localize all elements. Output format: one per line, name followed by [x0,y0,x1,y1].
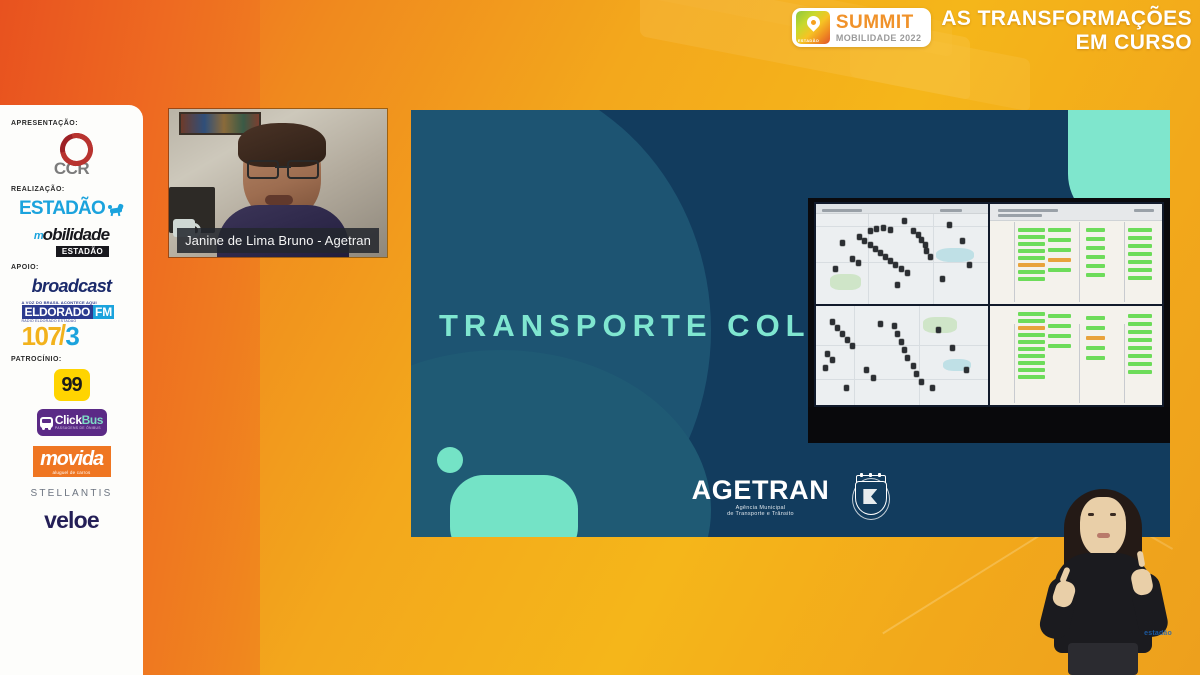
video-wall [814,202,1164,407]
agetran-logo: AGETRAN Agência Municipal de Transporte … [692,477,830,517]
eldorado-fm-mark: FM [93,305,114,319]
event-header: ESTADÃO SUMMIT MOBILIDADE 2022 AS TRANSF… [792,2,1192,54]
slide-dot-mint [437,447,463,473]
sign-language-interpreter: estadão [1028,485,1178,675]
summit-pin-tag: ESTADÃO [798,38,819,43]
wall-panel-table-top [990,204,1162,304]
logo-ccr[interactable]: CCR [0,130,143,181]
summit-logo-badge: ESTADÃO SUMMIT MOBILIDADE 2022 [792,8,932,47]
logo-movida[interactable]: movida aluguel de carros [0,441,143,482]
mobilidade-wordmark: obilidade [43,225,110,245]
wall-panel-table-bottom [990,306,1162,406]
logo-eldorado-fm[interactable]: A VOZ DO BRASIL ACONTECE AQUI ELDORADO F… [0,299,143,351]
logo-estadao[interactable]: ESTADÃO [0,196,143,222]
glasses-icon [247,160,319,175]
control-room-photo [808,198,1170,443]
presentation-slide[interactable]: TRANSPORTE COLETIVO [411,110,1170,537]
speaker-video-tile[interactable]: Janine de Lima Bruno - Agetran [169,109,387,257]
estadao-wordmark: ESTADÃO [19,198,105,220]
sidebar-label-patrocinio: PATROCÍNIO: [0,356,143,363]
eldorado-wordmark: ELDORADO [22,305,93,319]
n99-wordmark: 99 [61,374,81,397]
stellantis-wordmark: STELLANTIS [30,488,112,499]
logo-clickbus[interactable]: ClickBus PASSAGENS DE ÔNIBUS [0,404,143,441]
sidebar-label-realizacao: REALIZAÇÃO: [0,186,143,193]
speaker-name-bar: Janine de Lima Bruno - Agetran [177,228,379,253]
logo-99[interactable]: 99 [0,366,143,404]
agetran-wordmark: AGETRAN [692,477,830,504]
sidebar-label-apoio: APOIO: [0,264,143,271]
event-title-line2: EM CURSO [941,31,1192,55]
city-coat-of-arms-icon [851,475,889,519]
mobilidade-estadao-tag: ESTADÃO [56,246,109,257]
summit-logo-word: SUMMIT [836,13,922,32]
eldorado-frequency-decimal: 3 [65,323,78,349]
logo-mobilidade-estadao[interactable]: m obilidade ESTADÃO [0,222,143,259]
wall-panel-map-bottom [816,306,988,406]
speaker-name: Janine de Lima Bruno - Agetran [185,233,371,248]
logo-stellantis[interactable]: STELLANTIS [0,482,143,501]
bus-icon [40,417,53,428]
photo-lower-dark-band [808,407,1170,443]
event-title: AS TRANSFORMAÇÕES EM CURSO [941,7,1192,54]
sidebar-label-apresentacao: APRESENTAÇÃO: [0,120,143,127]
agetran-subtitle-line2: de Transporte e Trânsito [727,512,794,518]
summit-logo-sub: MOBILIDADE 2022 [836,34,922,43]
mobilidade-m-mark: m [34,230,43,242]
sponsors-sidebar: APRESENTAÇÃO: CCR REALIZAÇÃO: ESTADÃO m [0,105,143,675]
event-title-line1: AS TRANSFORMAÇÕES [941,7,1192,31]
eldorado-frequency: 107 [22,323,61,349]
movida-wordmark: movida [40,449,103,469]
ccr-swirl-icon [58,131,85,158]
map-pin-icon: ESTADÃO [796,11,830,44]
estadao-watermark: estadão [1144,630,1172,637]
movida-subtitle: aluguel de carros [53,470,91,475]
broadcast-stage: ESTADÃO SUMMIT MOBILIDADE 2022 AS TRANSF… [0,0,1200,675]
logo-veloe[interactable]: veloe [0,501,143,534]
clickbus-subtitle: PASSAGENS DE ÔNIBUS [55,427,103,430]
broadcast-wordmark: broadcast [32,276,112,297]
wall-panel-map-top [816,204,988,304]
veloe-wordmark: veloe [44,507,99,534]
logo-broadcast[interactable]: broadcast [0,274,143,299]
horse-rider-icon [108,202,124,216]
